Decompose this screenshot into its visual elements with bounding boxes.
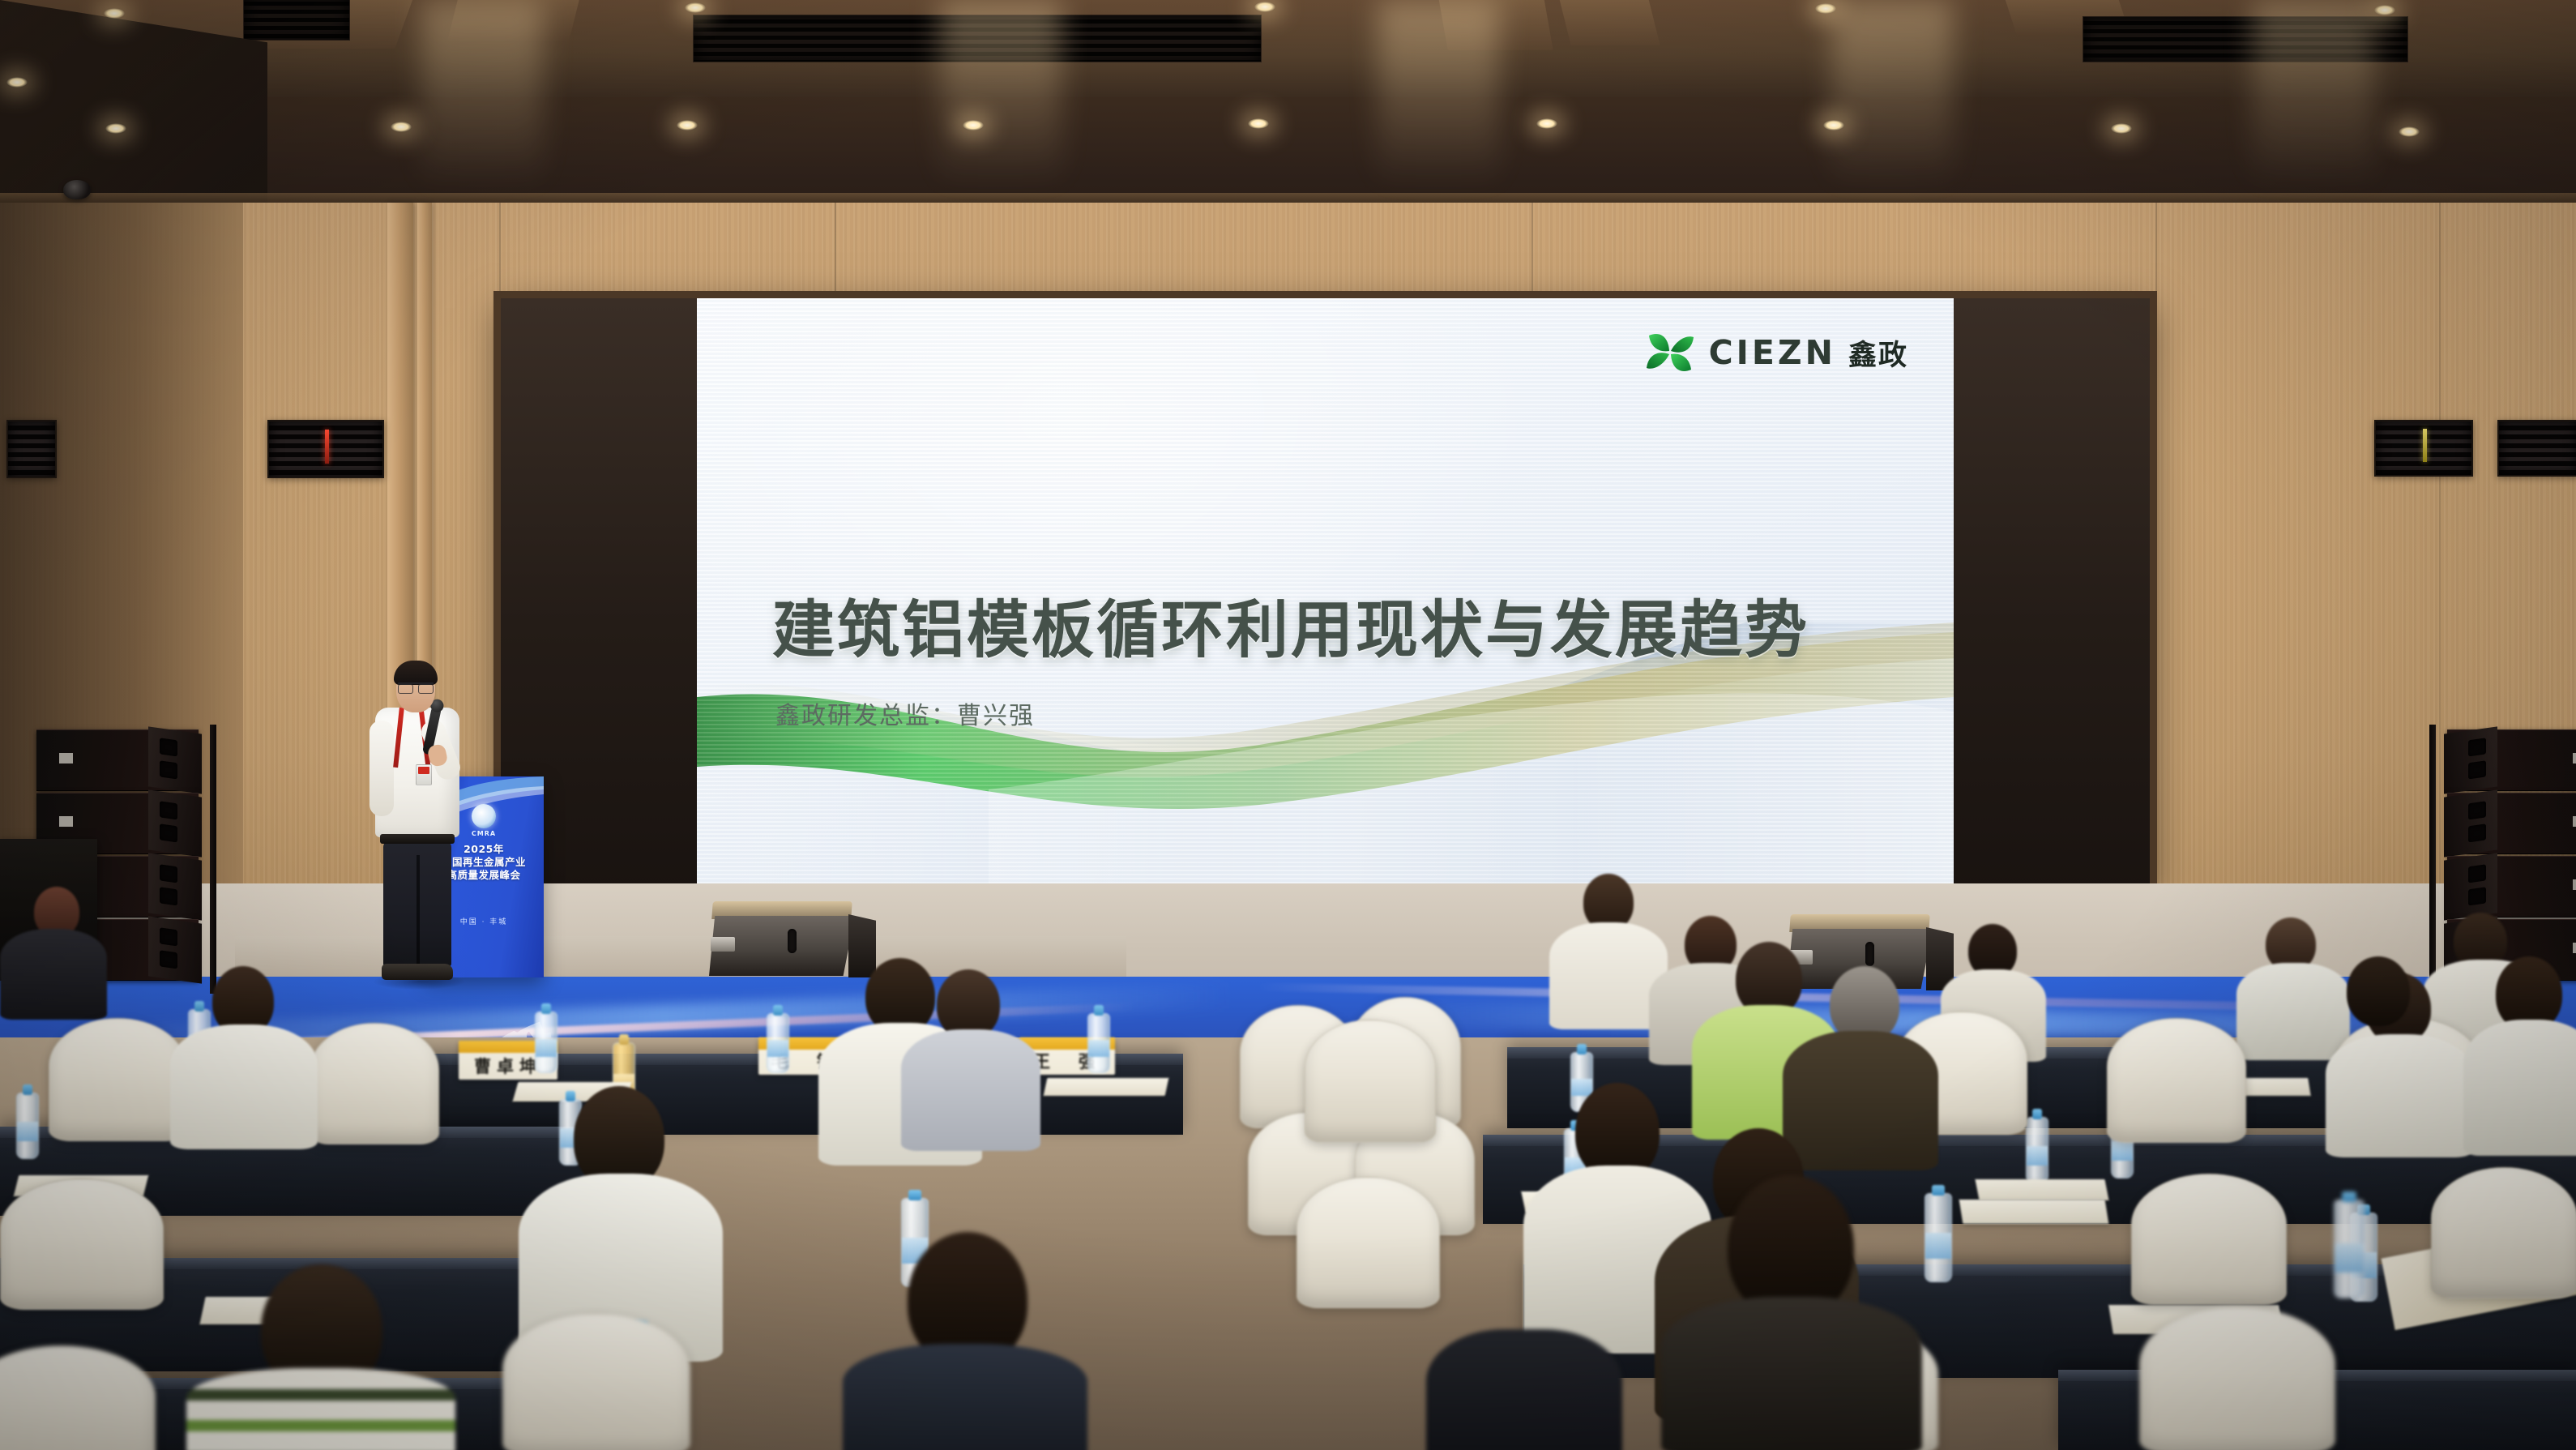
speaker-badge [2573, 943, 2576, 953]
speaker-badge [59, 816, 73, 827]
water-bottle [767, 1013, 789, 1073]
audience-chair [310, 1023, 439, 1144]
line-array-box [2447, 729, 2576, 791]
downlight [1254, 2, 1275, 12]
water-bottle [2334, 1200, 2365, 1298]
conference-hall-photo: CIEZN 鑫政 建筑铝模板循环利用现状与发展趋势 鑫政研发总监：曹兴强 ℭ C… [0, 0, 2576, 1450]
presenter-shoes [382, 964, 453, 980]
audience-chair [2431, 1167, 2576, 1298]
slide-logo-latin: CIEZN [1709, 333, 1836, 372]
ceiling-wall-wash [1831, 0, 1953, 186]
wall-vent-panel [6, 420, 57, 478]
audience-person [2463, 956, 2576, 1151]
line-array-box [2447, 793, 2576, 854]
vent-indicator [2423, 429, 2427, 462]
wedge-connector [711, 937, 735, 952]
line-array-face [148, 726, 202, 793]
downlight [2111, 123, 2132, 134]
audience-chair [49, 1018, 186, 1141]
downlight [104, 8, 125, 19]
person-torso [2463, 1020, 2576, 1156]
speaker-badge [2573, 816, 2576, 827]
presenter-badge [416, 764, 432, 785]
speaker-rigging-bar [210, 725, 216, 994]
ceiling-wall-wash [421, 0, 543, 186]
ceiling-wall-wash [2253, 0, 2374, 186]
person-head [2347, 956, 2410, 1026]
table-paper [1975, 1179, 2108, 1200]
downlight [105, 123, 126, 134]
cmra-logo-icon [472, 804, 496, 828]
audience-person-front [843, 1232, 1086, 1450]
audience-chair [502, 1313, 690, 1450]
water-bottle [2026, 1117, 2048, 1183]
line-array-face [2444, 789, 2497, 857]
audience-chair [2139, 1307, 2335, 1450]
wall-vent-panel [2374, 420, 2473, 477]
speaker-badge [2573, 753, 2576, 763]
audience-person-front [1426, 1329, 1621, 1450]
water-bottle [1087, 1013, 1110, 1073]
downlight [6, 77, 28, 88]
glasses-icon [398, 682, 434, 693]
audience-chair [2107, 1018, 2246, 1143]
person-torso [0, 929, 107, 1020]
downlight [2374, 5, 2395, 15]
downlight [677, 120, 698, 130]
person-torso [1426, 1329, 1622, 1450]
person-torso [170, 1024, 318, 1149]
line-array-face [2444, 853, 2497, 920]
table-paper [1044, 1078, 1169, 1096]
presenter-left-arm [370, 721, 394, 816]
line-array-face [148, 853, 202, 920]
ceiling-beam [1557, 0, 1660, 45]
audience-chair [1305, 1020, 1436, 1143]
presentation-slide: CIEZN 鑫政 建筑铝模板循环利用现状与发展趋势 鑫政研发总监：曹兴强 [697, 298, 1954, 890]
audience-person [2311, 956, 2457, 1119]
line-array-box [36, 729, 199, 791]
line-array-face [148, 789, 202, 857]
table-notepad [1959, 1200, 2109, 1224]
audience-chair [1297, 1177, 1440, 1308]
wall-vent-panel [2497, 420, 2576, 477]
dome-camera-icon [63, 180, 91, 199]
screen-bezel-right [1954, 298, 2150, 890]
downlight [685, 2, 706, 13]
slide-brand-logo: CIEZN 鑫政 [1643, 326, 1908, 379]
downlight [1536, 118, 1557, 129]
audience-person [0, 887, 105, 1016]
downlight [1823, 120, 1844, 130]
line-array-face [2444, 726, 2497, 793]
presenter-hair [394, 661, 438, 685]
ceiling-wall-wash [940, 0, 1062, 186]
downlight [1815, 3, 1836, 14]
presenter-person [369, 661, 466, 985]
led-video-wall: CIEZN 鑫政 建筑铝模板循环利用现状与发展趋势 鑫政研发总监：曹兴强 [501, 298, 2150, 890]
downlight [1248, 118, 1269, 129]
vent-indicator [325, 430, 329, 464]
person-torso [1661, 1297, 1922, 1450]
audience-person-front [186, 1264, 454, 1450]
person-torso [843, 1344, 1087, 1450]
wedge-port [788, 929, 797, 953]
presenter-leg-split [417, 855, 420, 965]
wall-vent-panel [267, 420, 384, 478]
speaker-badge [2573, 879, 2576, 890]
downlight [963, 120, 984, 130]
audience-person [901, 969, 1039, 1148]
water-bottle [535, 1012, 557, 1073]
downlight [391, 122, 412, 132]
water-bottle [16, 1093, 39, 1159]
slide-title: 建筑铝模板循环利用现状与发展趋势 [772, 580, 1809, 670]
audience-chair [2131, 1174, 2287, 1305]
ciezn-pinwheel-icon [1643, 326, 1697, 379]
speaker-badge [59, 753, 73, 763]
person-torso [901, 1029, 1040, 1151]
line-array-box [2447, 856, 2576, 917]
ceiling-vent-grille [243, 0, 350, 41]
slide-subtitle: 鑫政研发总监：曹兴强 [775, 695, 1035, 731]
audience-chair [0, 1178, 164, 1310]
presenter-belt [380, 834, 455, 844]
downlight [2399, 126, 2420, 137]
audience-person [170, 966, 316, 1144]
person-torso [186, 1368, 455, 1450]
ceiling-wall-wash [1378, 0, 1499, 186]
audience-person-front [1661, 1175, 1920, 1450]
water-bottle [1925, 1193, 1952, 1282]
audience-person [519, 1086, 721, 1354]
wedge-port [1865, 942, 1874, 966]
slide-logo-chinese: 鑫政 [1848, 332, 1908, 374]
